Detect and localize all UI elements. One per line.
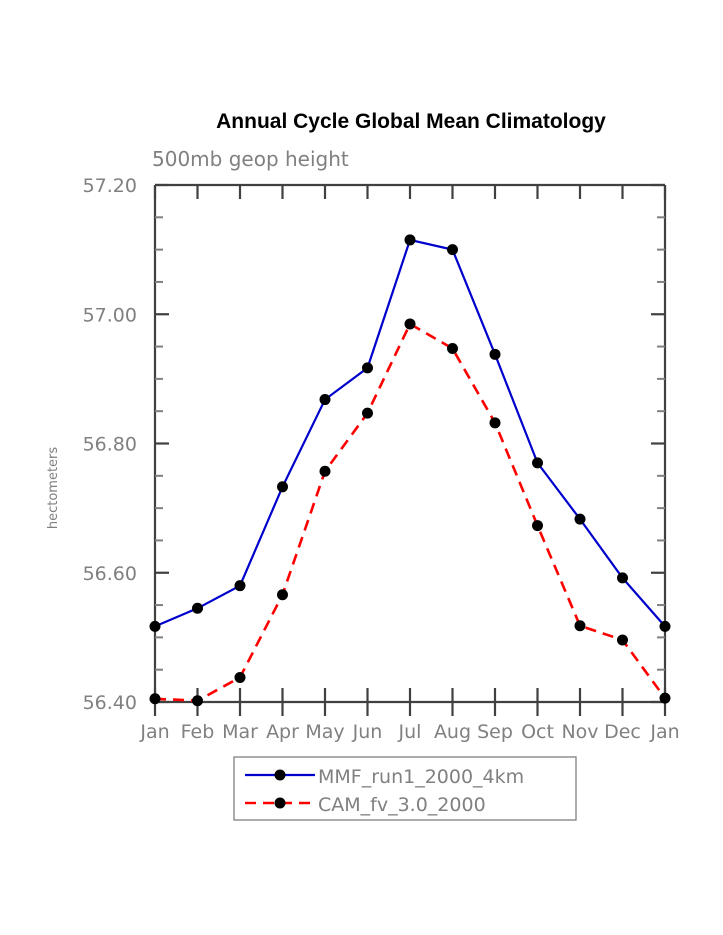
y-tick-label: 56.40 xyxy=(83,692,137,714)
x-tick-label: Sep xyxy=(477,721,513,743)
data-point xyxy=(575,514,586,525)
legend: MMF_run1_2000_4km CAM_fv_3.0_2000 xyxy=(234,757,576,820)
data-point xyxy=(660,693,671,704)
x-tick-label: Jun xyxy=(352,721,383,743)
x-tick-label: Aug xyxy=(434,721,471,743)
data-point xyxy=(405,234,416,245)
legend-marker-series1 xyxy=(275,770,286,781)
data-point xyxy=(150,621,161,632)
y-tick-label: 57.00 xyxy=(83,304,137,326)
data-point xyxy=(150,693,161,704)
chart-subtitle: 500mb geop height xyxy=(152,147,349,171)
data-point xyxy=(277,481,288,492)
data-point xyxy=(235,672,246,683)
data-point xyxy=(490,417,501,428)
data-point xyxy=(405,318,416,329)
data-point xyxy=(532,457,543,468)
data-point xyxy=(362,408,373,419)
data-point xyxy=(192,695,203,706)
data-point xyxy=(617,572,628,583)
x-tick-label: Dec xyxy=(604,721,641,743)
legend-label-series2: CAM_fv_3.0_2000 xyxy=(318,794,486,816)
legend-label-series1: MMF_run1_2000_4km xyxy=(318,766,524,788)
data-point xyxy=(447,244,458,255)
data-point xyxy=(235,580,246,591)
x-tick-label: Jan xyxy=(139,721,169,743)
x-tick-label: Mar xyxy=(222,721,258,743)
data-point xyxy=(575,620,586,631)
data-point xyxy=(320,466,331,477)
y-axis-title: hectometers xyxy=(46,447,61,530)
x-tick-label: Nov xyxy=(561,721,598,743)
data-point xyxy=(490,349,501,360)
data-point xyxy=(192,603,203,614)
data-point xyxy=(617,634,628,645)
legend-marker-series2 xyxy=(275,798,286,809)
chart-title: Annual Cycle Global Mean Climatology xyxy=(216,110,606,133)
data-point xyxy=(320,394,331,405)
chart-figure: Annual Cycle Global Mean Climatology 500… xyxy=(0,0,723,935)
x-tick-label: Jul xyxy=(398,721,422,743)
y-tick-label: 57.20 xyxy=(83,175,137,197)
data-point xyxy=(532,520,543,531)
y-tick-label: 56.80 xyxy=(83,434,137,456)
x-tick-label: Oct xyxy=(521,721,554,743)
x-tick-label: Feb xyxy=(181,721,215,743)
y-tick-label: 56.60 xyxy=(83,563,137,585)
x-tick-label: Apr xyxy=(266,721,299,743)
data-point xyxy=(660,621,671,632)
x-tick-label: Jan xyxy=(649,721,679,743)
x-tick-label: May xyxy=(305,721,344,743)
data-point xyxy=(277,589,288,600)
data-point xyxy=(362,362,373,373)
data-point xyxy=(447,343,458,354)
